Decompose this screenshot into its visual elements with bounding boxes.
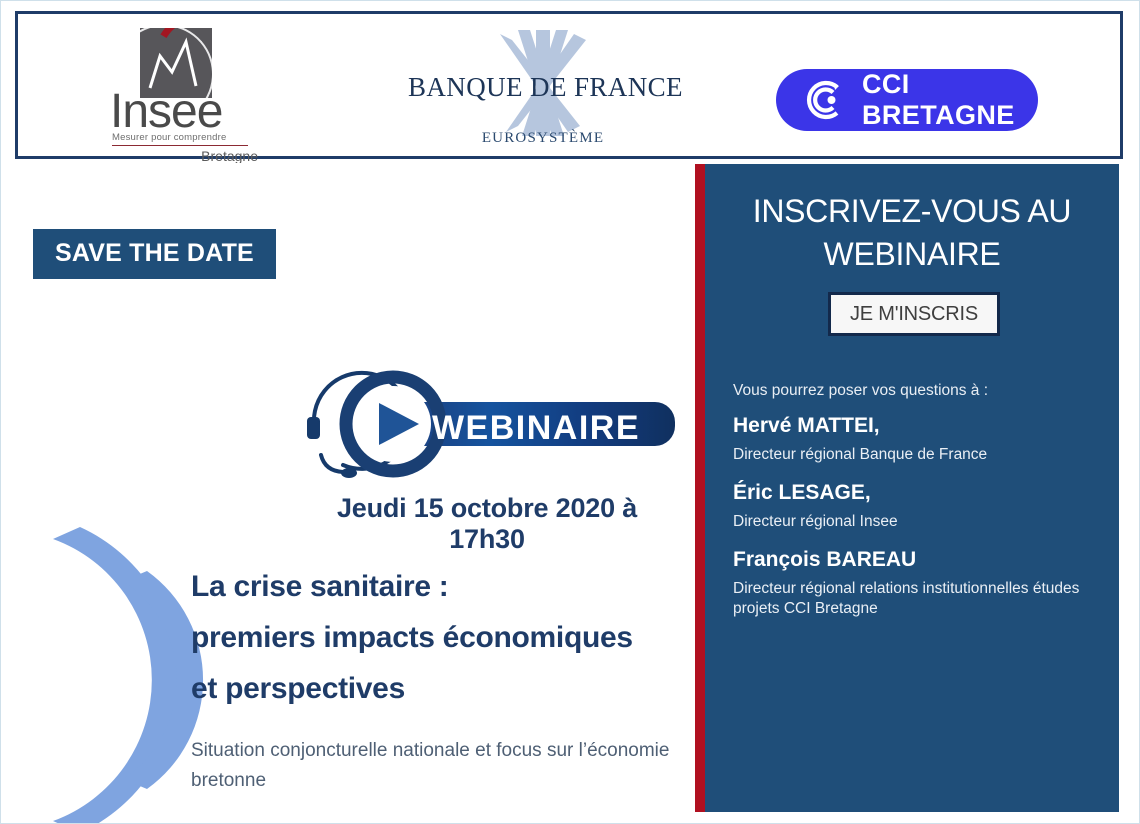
banque-de-france-eurosysteme-label: EUROSYSTÈME <box>408 130 678 147</box>
webinaire-badge-icon: WEBINAIRE <box>293 369 683 479</box>
event-subtitle: Situation conjoncturelle nationale et fo… <box>191 736 691 797</box>
speaker-role-3: Directeur régional relations institution… <box>733 579 1105 619</box>
banque-de-france-logo: BANQUE DE FRANCE EUROSYSTÈME <box>408 30 678 150</box>
poster-page: Insee Mesurer pour comprendre Bretagne B… <box>0 0 1140 824</box>
cci-circle-mark <box>804 79 846 121</box>
speaker-role-1: Directeur régional Banque de France <box>733 445 1105 465</box>
speaker-role-2: Directeur régional Insee <box>733 512 1105 532</box>
cci-bretagne-logo: CCI BRETAGNE <box>776 69 1038 131</box>
panel-red-accent-strip <box>695 164 705 812</box>
insee-wordmark: Insee <box>110 88 222 136</box>
insee-region-label: Bretagne <box>201 148 258 164</box>
insee-tagline: Mesurer pour comprendre <box>112 132 248 146</box>
speaker-name-3: François BAREAU <box>733 548 1105 572</box>
title-line-3: et perspectives <box>191 663 691 714</box>
event-date: Jeudi 15 octobre 2020 à 17h30 <box>297 493 677 555</box>
cci-bretagne-wordmark: CCI BRETAGNE <box>862 69 1038 131</box>
insee-logo: Insee Mesurer pour comprendre Bretagne <box>108 28 258 148</box>
speaker-name-1: Hervé MATTEI, <box>733 414 1105 438</box>
partners-logo-bar: Insee Mesurer pour comprendre Bretagne B… <box>15 11 1123 159</box>
decorative-arcs-icon <box>35 521 205 824</box>
event-title-block: La crise sanitaire : premiers impacts éc… <box>191 561 691 797</box>
title-line-1: La crise sanitaire : <box>191 561 691 612</box>
registration-heading: INSCRIVEZ-VOUS AU WEBINAIRE <box>725 190 1099 276</box>
banque-de-france-wordmark: BANQUE DE FRANCE <box>408 72 678 103</box>
registration-panel: INSCRIVEZ-VOUS AU WEBINAIRE JE M'INSCRIS… <box>705 164 1119 812</box>
webinaire-badge-text: WEBINAIRE <box>432 409 640 447</box>
left-content-pane: SAVE THE DATE WE <box>1 163 697 823</box>
speakers-section: Vous pourrez poser vos questions à : Her… <box>733 382 1105 620</box>
title-line-2: premiers impacts économiques <box>191 612 691 663</box>
speaker-name-2: Éric LESAGE, <box>733 481 1105 505</box>
speakers-intro: Vous pourrez poser vos questions à : <box>733 382 1105 400</box>
insee-zigzag-icon <box>146 36 206 92</box>
save-the-date-badge: SAVE THE DATE <box>33 229 276 279</box>
signup-button[interactable]: JE M'INSCRIS <box>828 292 1000 336</box>
